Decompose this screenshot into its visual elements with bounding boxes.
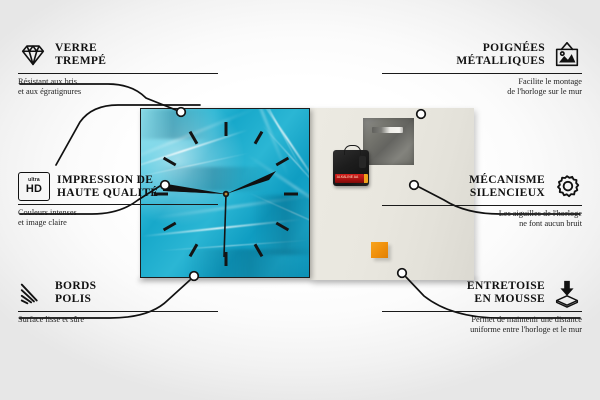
- feature-divider: [18, 73, 218, 74]
- feature-divider: [382, 205, 582, 206]
- polished-edge-lines-icon: [18, 278, 48, 308]
- picture-frame-hook-icon: [552, 40, 582, 70]
- feature-header: MÉCANISME SILENCIEUX: [382, 172, 582, 202]
- battery-terminal: [364, 174, 368, 183]
- feature-header: ENTRETOISE EN MOUSSE: [382, 278, 582, 308]
- feature-title: VERRE TREMPÉ: [55, 42, 106, 67]
- feature-description: Les aiguilles de l'horloge ne font aucun…: [382, 209, 582, 229]
- feature-mecanisme-silencieux: MÉCANISME SILENCIEUX Les aiguilles de l'…: [382, 172, 582, 229]
- feature-divider: [18, 204, 218, 205]
- foam-spacer: [371, 242, 388, 258]
- clock-mechanism: ALKALINE AA: [333, 150, 369, 186]
- feature-description: Permet de maintenir une distance uniform…: [382, 315, 582, 335]
- arrow-down-stack-icon: [552, 278, 582, 308]
- feature-description: Facilite le montage de l'horloge sur le …: [382, 77, 582, 97]
- ultra-hd-icon: ultra HD: [18, 172, 50, 201]
- feature-title: ENTRETOISE EN MOUSSE: [467, 280, 545, 305]
- feature-description: Couleurs intenses et image claire: [18, 208, 218, 228]
- battery-label: ALKALINE AA: [335, 174, 360, 183]
- feature-divider: [18, 311, 218, 312]
- gear-icon: [552, 172, 582, 202]
- feature-bords-polis: BORDS POLIS Surface lisse et sûre: [18, 278, 218, 325]
- infographic-canvas: ALKALINE AA: [0, 0, 600, 400]
- feature-entretoise-en-mousse: ENTRETOISE EN MOUSSE Permet de maintenir…: [382, 278, 582, 335]
- metallic-hanger-plate: [363, 118, 414, 165]
- feature-impression-haute-qualite: ultra HD IMPRESSION DE HAUTE QUALITÉ Cou…: [18, 172, 218, 228]
- feature-title: IMPRESSION DE HAUTE QUALITÉ: [57, 174, 158, 199]
- feature-divider: [382, 311, 582, 312]
- diamond-icon: [18, 40, 48, 70]
- mechanism-hanging-loop: [344, 145, 361, 155]
- feature-header: BORDS POLIS: [18, 278, 218, 308]
- feature-verre-trempe: VERRE TREMPÉ Résistant aux bris et aux é…: [18, 40, 218, 97]
- feature-title: BORDS POLIS: [55, 280, 96, 305]
- feature-poignees-metalliques: POIGNÉES MÉTALLIQUES Facilite le montage…: [382, 40, 582, 97]
- hanger-slot: [372, 127, 403, 133]
- feature-divider: [382, 73, 582, 74]
- feature-title: MÉCANISME SILENCIEUX: [469, 174, 545, 199]
- feature-header: ultra HD IMPRESSION DE HAUTE QUALITÉ: [18, 172, 218, 201]
- feature-header: VERRE TREMPÉ: [18, 40, 218, 70]
- feature-description: Résistant aux bris et aux égratignures: [18, 77, 218, 97]
- ultra-hd-icon-large-text: HD: [26, 184, 42, 195]
- mechanism-time-setter: [359, 156, 366, 168]
- feature-description: Surface lisse et sûre: [18, 315, 218, 325]
- feature-header: POIGNÉES MÉTALLIQUES: [382, 40, 582, 70]
- feature-title: POIGNÉES MÉTALLIQUES: [456, 42, 545, 67]
